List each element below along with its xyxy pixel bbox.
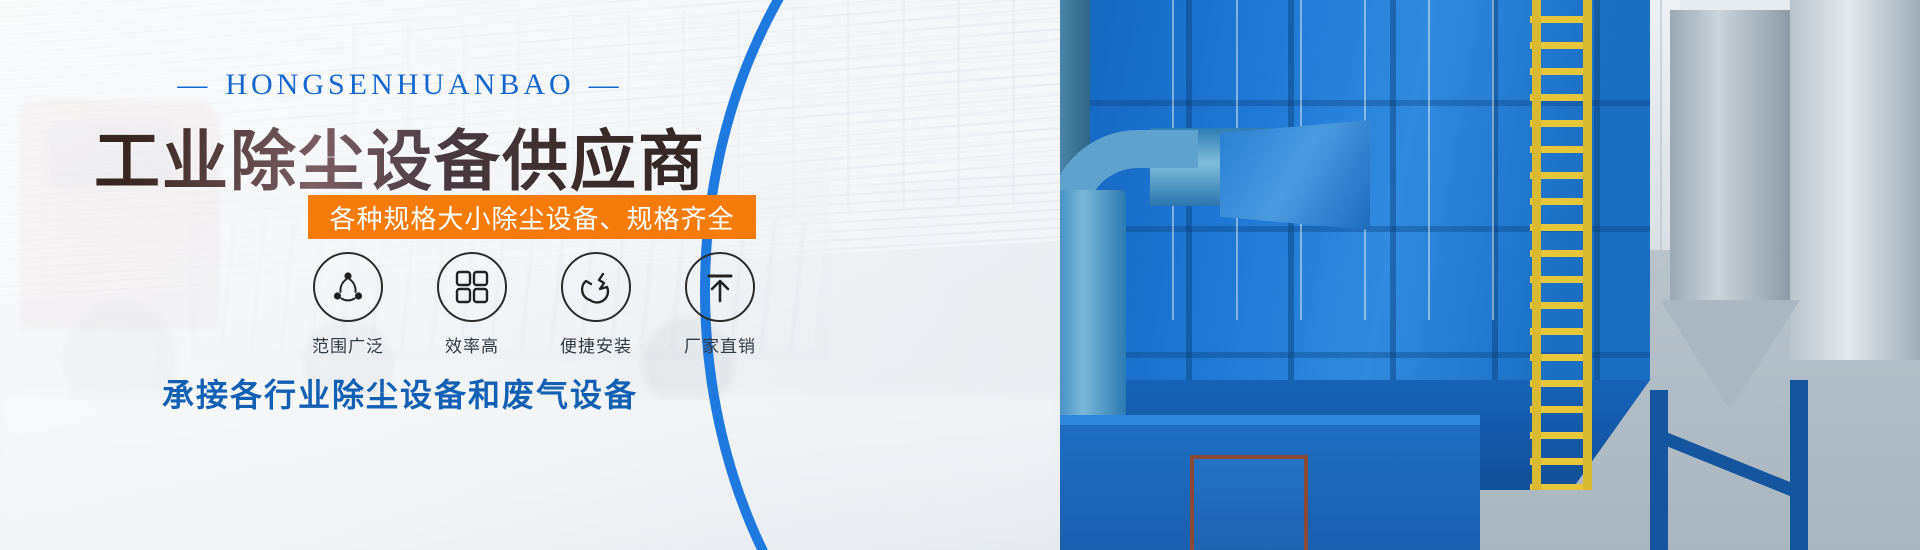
brand-eyebrow: —HONGSENHUANBAO— xyxy=(0,68,800,102)
feature-label: 便捷安装 xyxy=(548,332,644,357)
feature-list: 范围广泛 效率高 xyxy=(300,252,768,357)
hero-tagline: 承接各行业除尘设备和废气设备 xyxy=(0,370,800,416)
up-arrow-icon xyxy=(685,252,755,322)
feature-item-direct-sales[interactable]: 厂家直销 xyxy=(672,252,768,357)
feature-label: 范围广泛 xyxy=(300,332,396,357)
eyebrow-dash-right: — xyxy=(589,68,623,102)
eyebrow-dash-left: — xyxy=(177,68,211,102)
hero-banner: —HONGSENHUANBAO— 工业除尘设备供应商 各种规格大小除尘设备、规格… xyxy=(0,0,1920,550)
subtitle-ribbon-text: 各种规格大小除尘设备、规格齐全 xyxy=(329,199,734,236)
network-nodes-icon xyxy=(313,252,383,322)
wrench-icon xyxy=(561,252,631,322)
grid-squares-icon xyxy=(437,252,507,322)
feature-item-installation[interactable]: 便捷安装 xyxy=(548,252,644,357)
feature-item-efficiency[interactable]: 效率高 xyxy=(424,252,520,357)
hero-content: —HONGSENHUANBAO— 工业除尘设备供应商 各种规格大小除尘设备、规格… xyxy=(0,0,1060,550)
subtitle-ribbon: 各种规格大小除尘设备、规格齐全 xyxy=(308,195,756,239)
feature-label: 效率高 xyxy=(424,332,520,357)
eyebrow-text: HONGSENHUANBAO xyxy=(225,68,574,101)
page-title: 工业除尘设备供应商 xyxy=(0,108,800,204)
feature-item-range[interactable]: 范围广泛 xyxy=(300,252,396,357)
feature-label: 厂家直销 xyxy=(672,332,768,357)
